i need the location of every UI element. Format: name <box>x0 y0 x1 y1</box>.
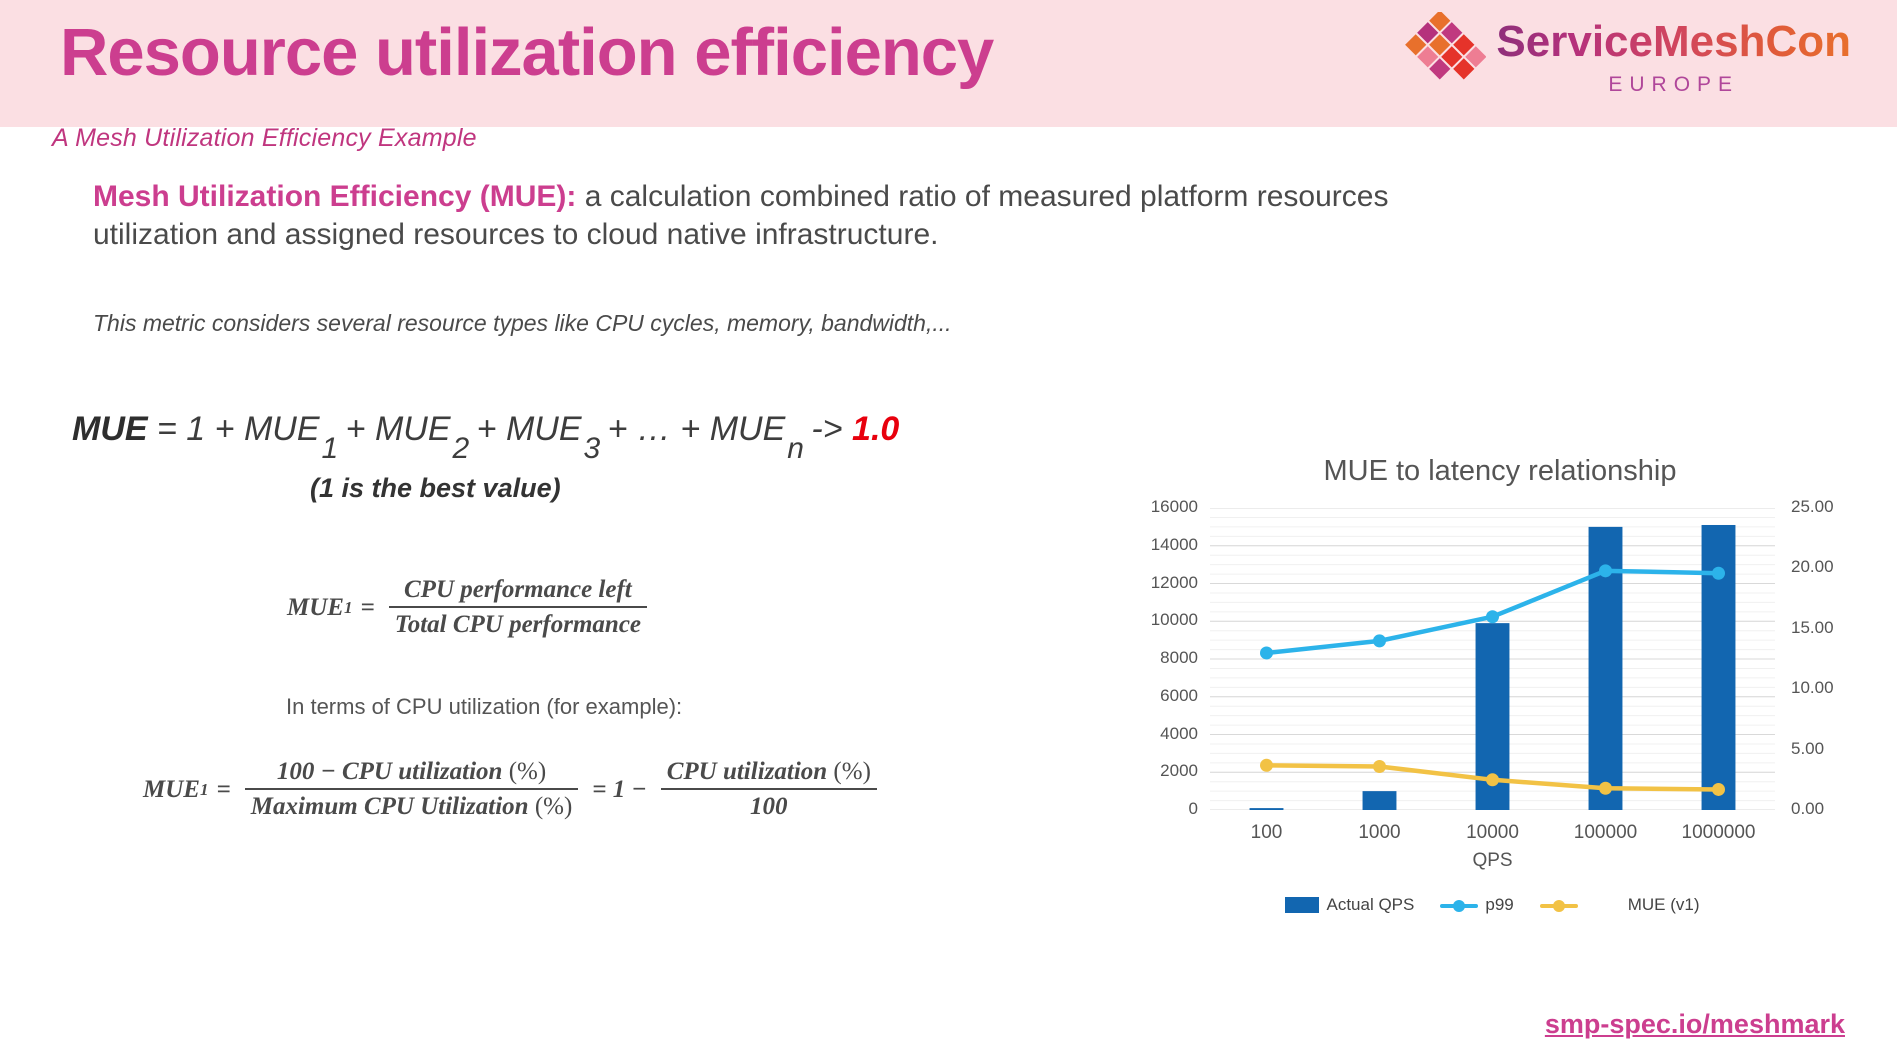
x-axis-tick: 1000 <box>1323 822 1436 844</box>
y-axis-right-tick: 20.00 <box>1791 557 1834 577</box>
legend-label-mue-v1: MUE (v1) <box>1628 895 1700 915</box>
formula-plus-dots: + … + MUE <box>598 410 785 448</box>
eq2-denominator-2: 100 <box>661 788 877 821</box>
y-axis-left-tick: 6000 <box>1130 686 1198 706</box>
best-value-note: (1 is the best value) <box>310 473 561 504</box>
y-axis-left-tick: 16000 <box>1130 497 1198 517</box>
y-axis-left-tick: 4000 <box>1130 724 1198 744</box>
eq1-lhs: MUE <box>287 594 344 622</box>
legend-label-p99: p99 <box>1485 895 1513 915</box>
definition-term: Mesh Utilization Efficiency (MUE): <box>93 180 576 213</box>
logo-region-label: EUROPE <box>1608 73 1739 97</box>
eq2-numerator-2: CPU utilization (%) <box>661 758 877 788</box>
metric-note: This metric considers several resource t… <box>93 310 1093 337</box>
eq1-equals: = <box>360 594 374 622</box>
eq2-numerator-text: 100 − CPU utilization <box>277 758 503 785</box>
smp-spec-link[interactable]: smp-spec.io/meshmark <box>1545 1009 1845 1040</box>
slide-subtitle: A Mesh Utilization Efficiency Example <box>52 124 477 153</box>
mue-latency-chart: MUE to latency relationship QPS Actual Q… <box>1130 455 1870 945</box>
servicemeshcon-logo: ServiceMeshCon EUROPE <box>1402 8 1851 97</box>
servicemeshcon-mesh-logo-icon <box>1402 12 1486 96</box>
legend-item-actual-qps[interactable]: Actual QPS <box>1285 895 1414 915</box>
chart-title: MUE to latency relationship <box>1130 455 1870 488</box>
mue-summation-formula: MUE = 1 + MUE1 + MUE2 + MUE3 + … + MUEn … <box>72 410 899 449</box>
formula-sub-3: 3 <box>584 432 601 466</box>
y-axis-right-tick: 10.00 <box>1791 678 1834 698</box>
legend-label-actual-qps: Actual QPS <box>1326 895 1414 915</box>
formula-limit-value: 1.0 <box>852 410 899 448</box>
eq2-denominator-text: Maximum CPU Utilization <box>251 793 529 820</box>
y-axis-right-tick: 5.00 <box>1791 739 1824 759</box>
y-axis-left-tick: 2000 <box>1130 761 1198 781</box>
eq2-equals: = <box>216 776 230 804</box>
definition-paragraph: Mesh Utilization Efficiency (MUE): a cal… <box>93 178 1413 255</box>
y-axis-left-tick: 0 <box>1130 799 1198 819</box>
mue-cpu-utilization-equation: MUE1 = 100 − CPU utilization (%) Maximum… <box>143 758 883 821</box>
eq2-denominator-unit: (%) <box>535 793 572 820</box>
eq2-numerator-2-text: CPU utilization <box>667 758 827 785</box>
y-axis-right-tick: 15.00 <box>1791 618 1834 638</box>
eq1-numerator: CPU performance left <box>389 576 647 606</box>
y-axis-left-tick: 12000 <box>1130 573 1198 593</box>
y-axis-left-tick: 10000 <box>1130 610 1198 630</box>
chart-plot-area <box>1210 508 1775 810</box>
legend-item-p99[interactable]: p99 <box>1440 895 1513 915</box>
chart-x-axis-title: QPS <box>1210 850 1775 872</box>
logo-wordmark: ServiceMeshCon <box>1496 20 1851 64</box>
x-axis-tick: 100 <box>1210 822 1323 844</box>
eq2-equals-2: = 1 − <box>592 776 646 804</box>
formula-sub-n: n <box>787 432 804 466</box>
x-axis-tick: 1000000 <box>1662 822 1775 844</box>
bar-swatch-icon <box>1285 897 1319 913</box>
eq2-fraction-2: CPU utilization (%) 100 <box>661 758 877 821</box>
y-axis-left-tick: 14000 <box>1130 535 1198 555</box>
formula-arrow: -> <box>802 410 852 448</box>
eq1-fraction: CPU performance left Total CPU performan… <box>389 576 647 639</box>
line-swatch-mue-icon <box>1540 897 1578 913</box>
mue-cpu-equation: MUE1 = CPU performance left Total CPU pe… <box>287 576 653 639</box>
formula-lead: MUE <box>72 410 148 448</box>
eq2-numerator-unit: (%) <box>509 758 546 785</box>
in-terms-of-label: In terms of CPU utilization (for example… <box>286 694 682 720</box>
y-axis-right-tick: 0.00 <box>1791 799 1824 819</box>
legend-item-mue-v1[interactable]: MUE (v1) <box>1540 895 1700 915</box>
line-swatch-p99-icon <box>1440 897 1478 913</box>
eq2-lhs: MUE <box>143 776 200 804</box>
x-axis-tick: 10000 <box>1436 822 1549 844</box>
eq2-numerator-2-unit: (%) <box>833 758 870 785</box>
eq2-denominator: Maximum CPU Utilization (%) <box>245 788 579 821</box>
eq2-numerator: 100 − CPU utilization (%) <box>245 758 579 788</box>
chart-legend: Actual QPS p99 MUE (v1) <box>1210 895 1775 915</box>
y-axis-right-tick: 25.00 <box>1791 497 1834 517</box>
eq2-lhs-subscript: 1 <box>200 780 209 800</box>
y-axis-left-tick: 8000 <box>1130 648 1198 668</box>
formula-sub-1: 1 <box>322 432 339 466</box>
formula-body: = 1 + MUE <box>148 410 320 448</box>
formula-plus-3: + MUE <box>467 410 581 448</box>
formula-sub-2: 2 <box>453 432 470 466</box>
chart-plot-frame <box>1210 508 1775 810</box>
x-axis-tick: 100000 <box>1549 822 1662 844</box>
eq1-lhs-subscript: 1 <box>344 598 353 618</box>
eq2-fraction-1: 100 − CPU utilization (%) Maximum CPU Ut… <box>245 758 579 821</box>
formula-plus-2: + MUE <box>336 410 450 448</box>
eq1-denominator: Total CPU performance <box>389 606 647 639</box>
page-title: Resource utilization efficiency <box>60 14 993 91</box>
